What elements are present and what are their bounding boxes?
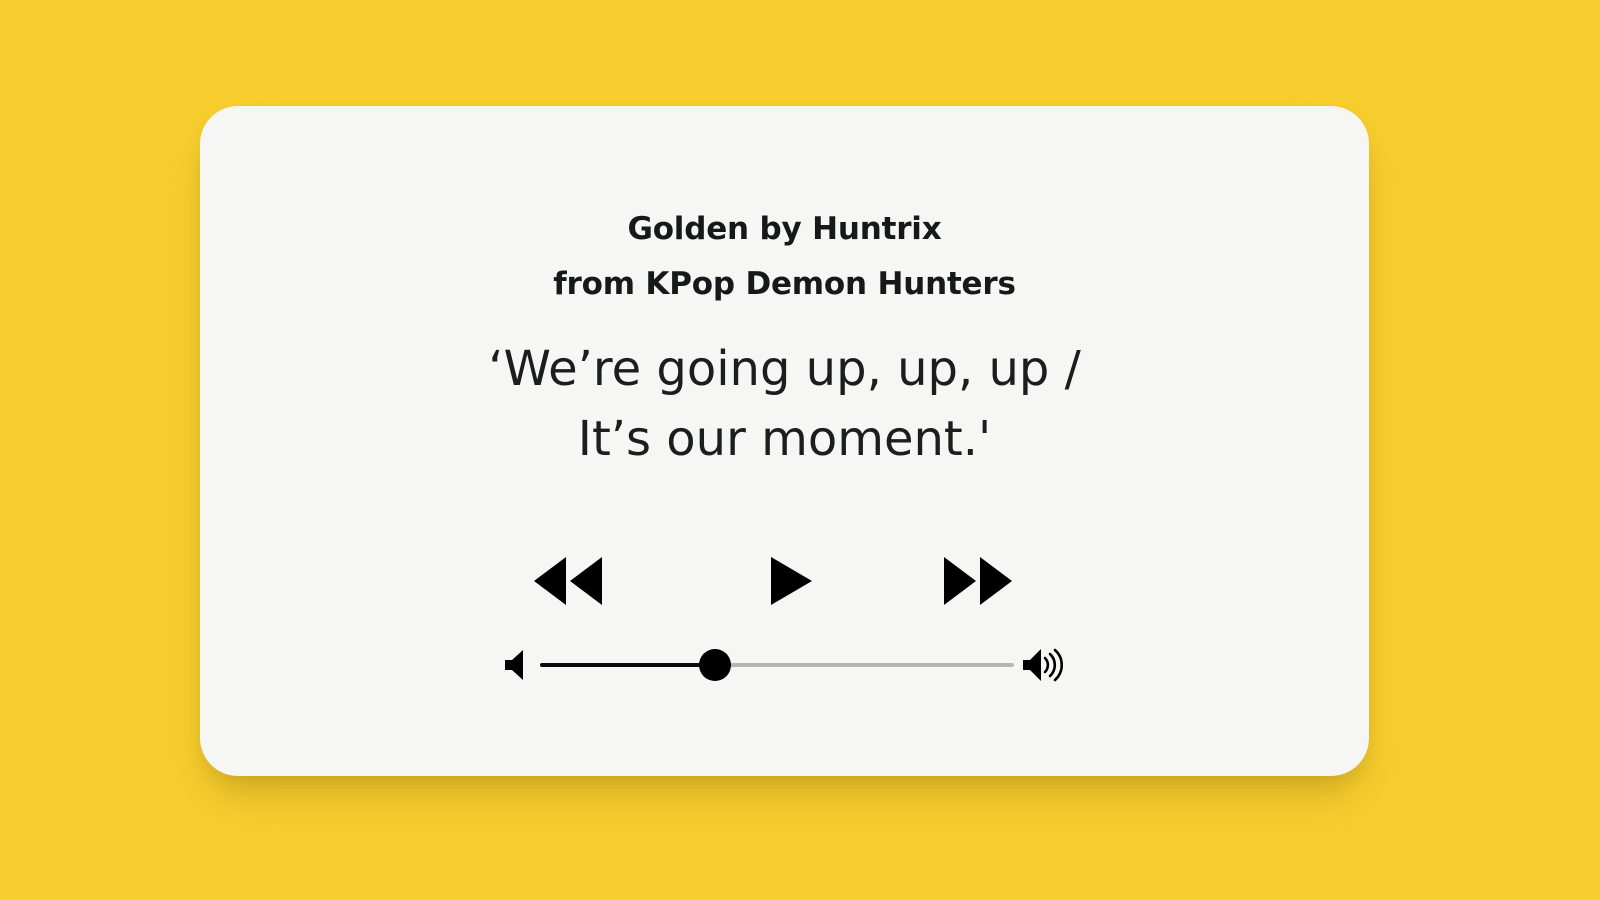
track-info: Golden by Huntrix from KPop Demon Hunter… — [200, 202, 1369, 312]
fast-forward-button[interactable] — [940, 546, 1016, 616]
volume-row — [200, 642, 1369, 688]
track-title: Golden by Huntrix — [200, 202, 1369, 257]
speaker-high-icon[interactable] — [1018, 642, 1066, 688]
volume-slider-fill — [540, 663, 715, 667]
volume-slider[interactable] — [540, 642, 1014, 688]
rewind-button[interactable] — [530, 546, 606, 616]
play-icon — [769, 556, 813, 606]
rewind-icon — [532, 555, 604, 607]
track-source: from KPop Demon Hunters — [200, 257, 1369, 312]
lyric-quote: ‘We’re going up, up, up / It’s our momen… — [200, 334, 1369, 474]
lyric-line-2: It’s our moment.' — [200, 404, 1369, 474]
lyric-line-1: ‘We’re going up, up, up / — [200, 334, 1369, 404]
fast-forward-icon — [942, 555, 1014, 607]
screen: Golden by Huntrix from KPop Demon Hunter… — [0, 0, 1600, 900]
volume-slider-thumb[interactable] — [699, 649, 731, 681]
music-player-card: Golden by Huntrix from KPop Demon Hunter… — [200, 106, 1369, 776]
speaker-low-icon[interactable] — [498, 642, 532, 688]
transport-controls — [200, 546, 1369, 616]
play-button[interactable] — [756, 546, 826, 616]
